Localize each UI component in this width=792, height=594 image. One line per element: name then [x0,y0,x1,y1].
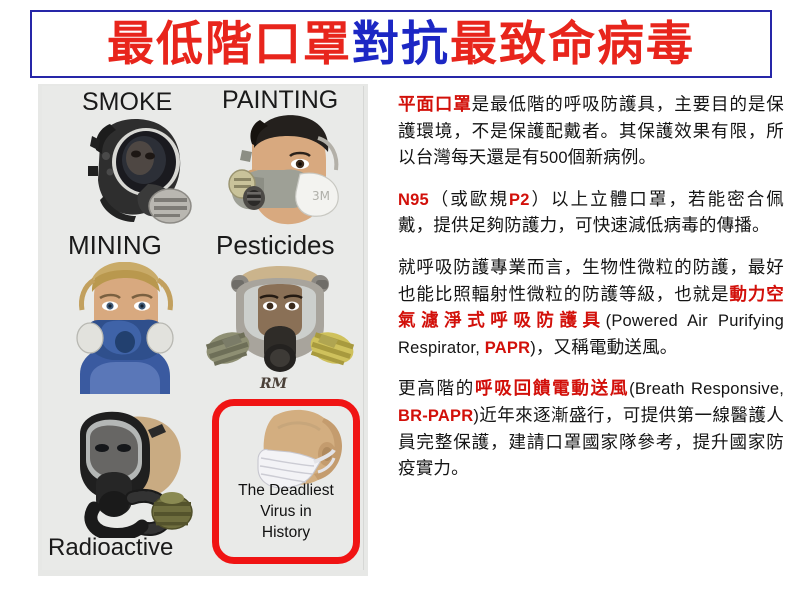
cell-label-radioactive: Radioactive [48,534,173,562]
cell-label-mining: MINING [68,230,162,261]
title-segment-1: 對抗 [352,17,450,72]
text-run-3-2: (Breath Responsive, [629,380,784,398]
text-run-1-0: N95 [398,191,429,209]
text-run-3-3: BR-PAPR [398,407,473,425]
paragraph-0: 平面口罩是最低階的呼吸防護具，主要目的是保護環境，不是保護配戴者。其保護效果有限… [398,92,784,172]
deadliest-virus-caption: The DeadliestVirus inHistory [216,481,356,544]
title-segment-2: 最致命病毒 [450,17,695,72]
paragraph-1: N95（或歐規P2）以上立體口罩，若能密合佩戴，提供足夠防護力，可快速減低病毒的… [398,187,784,240]
title-segment-0: 最低階口罩 [107,17,352,72]
text-run-2-0: 就呼吸防護專業而言，生物性微粒的防護，最好也能比照輻射性微粒的防護等級，也就是 [398,258,784,305]
text-run-1-2: P2 [509,191,530,209]
deadliest-line-2: History [216,523,356,544]
cell-label-painting: PAINTING [222,86,338,115]
mask-comparison-image: SMOKE [38,84,368,576]
title-banner: 最低階口罩對抗最致命病毒 [30,10,772,78]
cell-label-pesticides: Pesticides [216,230,335,261]
text-run-2-3: PAPR [485,339,530,357]
paragraph-3: 更高階的呼吸回饋電動送風(Breath Responsive, BR-PAPR)… [398,376,784,482]
page-title: 最低階口罩對抗最致命病毒 [107,21,695,68]
full-face-mask-with-hose-canister-icon [58,406,208,538]
text-run-3-0: 更高階的 [398,379,475,399]
deadliest-line-1: Virus in [216,502,356,523]
svg-text:3M: 3M [312,189,330,203]
text-run-0-2: 500 [540,149,568,167]
half-face-respirator-on-man-icon: 3M [208,112,348,240]
text-run-1-1: （或歐規 [429,190,509,210]
paragraph-2: 就呼吸防護專業而言，生物性微粒的防護，最好也能比照輻射性微粒的防護等級，也就是動… [398,255,784,361]
text-run-0-3: 個新病例。 [568,148,657,168]
text-run-0-0: 平面口罩 [398,95,472,115]
full-face-gas-mask-black-icon [70,110,200,238]
half-face-respirator-blue-icon [46,262,196,394]
deadliest-line-0: The Deadliest [216,481,356,502]
text-run-2-5: ，又稱電動送風。 [536,338,678,358]
article-body: 平面口罩是最低階的呼吸防護具，主要目的是保護環境，不是保護配戴者。其保護效果有限… [398,92,784,578]
text-run-3-1: 呼吸回饋電動送風 [475,379,629,399]
watermark-rm: RM [260,376,287,392]
full-face-respirator-cartridges-icon [202,264,358,390]
